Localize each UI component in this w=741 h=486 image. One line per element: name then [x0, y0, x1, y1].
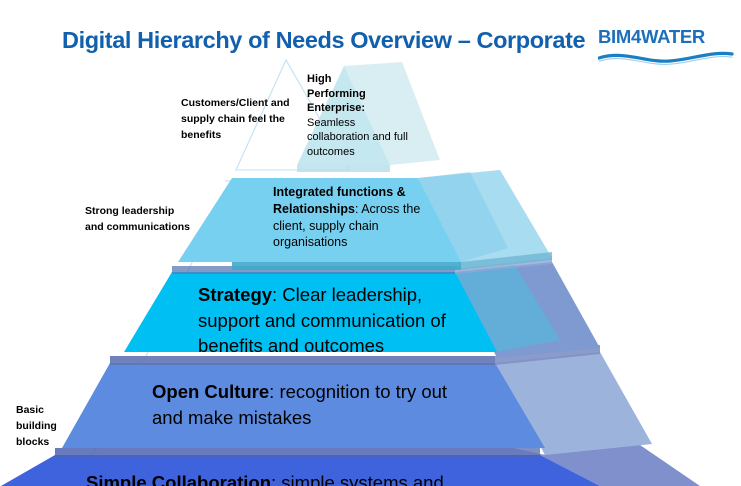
tier-label-integrated-functions: Integrated functions & Relationships: Ac…: [273, 184, 423, 251]
slide-canvas: Digital Hierarchy of Needs Overview – Co…: [0, 0, 741, 486]
annotation-basic-building-blocks: Basic building blocks: [16, 403, 86, 450]
tier-label-simple-collaboration: Simple Collaboration: simple systems and: [86, 470, 516, 486]
annotation-customers-client: Customers/Client and supply chain feel t…: [181, 96, 305, 143]
tier-label-high-performing-enterprise: High Performing Enterprise: Seamless col…: [307, 72, 419, 159]
tier-body: Seamless collaboration and full outcomes: [307, 117, 408, 158]
tier-body: : simple systems and: [271, 472, 444, 486]
tier-heading: Open Culture: [152, 381, 269, 402]
annotation-strong-leadership: Strong leadership and communications: [85, 204, 195, 236]
tier-heading-line3: Enterprise:: [307, 101, 419, 116]
tier-label-open-culture: Open Culture: recognition to try out and…: [152, 379, 482, 431]
tier-heading-line2: Performing: [307, 87, 419, 102]
tier-heading: High: [307, 72, 419, 87]
tier-heading: Simple Collaboration: [86, 472, 271, 486]
tier-label-strategy: Strategy: Clear leadership, support and …: [198, 282, 488, 359]
tier-heading: Strategy: [198, 284, 272, 305]
